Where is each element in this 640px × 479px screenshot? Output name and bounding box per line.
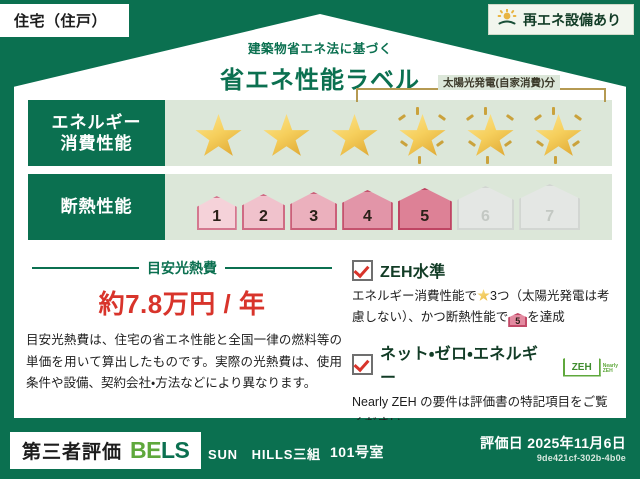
rule-left [32, 267, 139, 269]
bels-certification-badge: 第三者評価 BELS [10, 432, 201, 469]
zeh-badge-text: ZEH [572, 362, 592, 375]
renewable-badge-label: 再エネ設備あり [523, 10, 621, 30]
energy-performance-row: エネルギー 消費性能 太陽光発電(自家消費)分 [28, 100, 612, 166]
insulation-level-number: 2 [259, 208, 268, 226]
sun-ray [399, 140, 407, 147]
rule-right [225, 267, 332, 269]
sun-ray [416, 107, 419, 115]
star-shape [399, 114, 447, 160]
star-shape [331, 114, 379, 160]
evaluation-date: 評価日 2025年11月6日 [480, 433, 626, 453]
insulation-level-4: 4 [342, 190, 393, 230]
insulation-level-number: 7 [545, 208, 554, 226]
utility-cost-block: 目安光熱費 約7.8万円 / 年 [32, 258, 332, 321]
energy-stars-cell: 太陽光発電(自家消費)分 [165, 100, 612, 166]
insulation-level-scale: 1234567 [197, 184, 581, 230]
sun-ray [552, 107, 555, 115]
sun-ray [397, 114, 405, 121]
renewable-equipment-badge: 再エネ設備あり [488, 4, 634, 35]
solar-star-icon [460, 108, 522, 166]
sun-ray [573, 114, 581, 121]
star-icon [188, 108, 250, 166]
energy-label-line2: 消費性能 [61, 133, 133, 154]
zeh-standard-heading: ZEH水準 [352, 258, 618, 282]
zeh-standard-block: ZEH水準 エネルギー消費性能で3つ（太陽光発電は考慮しない）、かつ断熱性能で5… [352, 258, 618, 328]
sun-ray [533, 114, 541, 121]
insulation-level-badge-icon: 5 [508, 313, 527, 327]
sun-ray [535, 140, 543, 147]
insulation-level-number: 4 [363, 208, 372, 226]
insulation-level-2: 2 [242, 194, 286, 230]
insulation-level-7: 7 [519, 184, 580, 230]
sun-ray [554, 156, 557, 164]
sun-icon [497, 9, 517, 30]
solar-star-icon [528, 108, 590, 166]
sun-ray [465, 114, 473, 121]
sun-ray [435, 140, 443, 147]
star-shape [263, 114, 311, 160]
energy-performance-label: エネルギー 消費性能 [28, 100, 165, 166]
sun-ray [484, 107, 487, 115]
bels-logo: BELS [130, 437, 189, 464]
sun-ray [418, 156, 421, 164]
zeh-netzero-title: ネット・ゼロ・エネルギー [380, 340, 553, 388]
check-icon [352, 260, 373, 281]
star-icon [477, 289, 490, 302]
star-icon [324, 108, 386, 166]
utility-cost-value: 約7.8万円 / 年 [32, 284, 332, 321]
solar-bracket-label: 太陽光発電(自家消費)分 [438, 75, 560, 90]
insulation-level-number: 3 [309, 208, 318, 226]
sun-ray [571, 140, 579, 147]
bels-energy-label-screenshot: { "header": { "house_type": "住宅（住戸）", "r… [0, 0, 640, 479]
insulation-label-text: 断熱性能 [61, 196, 133, 217]
zeh-standard-title: ZEH水準 [380, 258, 446, 282]
star-shape [195, 114, 243, 160]
insulation-level-6: 6 [457, 186, 515, 230]
insulation-performance-label: 断熱性能 [28, 174, 165, 240]
insulation-scale-cell: 1234567 [165, 174, 612, 240]
zeh-badge-outline: ZEH [563, 352, 601, 377]
bels-logo-part1: BE [130, 437, 161, 463]
zeh-netzero-heading: ネット・ゼロ・エネルギー ZEH NearlyZEH [352, 340, 618, 388]
zeh-column: ZEH水準 エネルギー消費性能で3つ（太陽光発電は考慮しない）、かつ断熱性能で5… [352, 258, 618, 446]
title-subtitle: 建築物省エネ法に基づく [0, 38, 640, 57]
star-shape [467, 114, 515, 160]
sun-ray [486, 156, 489, 164]
insulation-level-number: 1 [212, 208, 221, 226]
energy-label-line1: エネルギー [52, 112, 142, 133]
utility-cost-note: 目安光熱費は、住宅の省エネ性能と全国一律の燃料等の単価を用いて算出したものです。… [26, 330, 342, 395]
insulation-performance-row: 断熱性能 1234567 [28, 174, 612, 240]
solar-star-icon [392, 108, 454, 166]
third-party-eval-label: 第三者評価 [22, 437, 122, 464]
sun-ray [505, 114, 513, 121]
insulation-level-3: 3 [290, 192, 337, 230]
insulation-level-number: 5 [420, 208, 429, 226]
utility-cost-heading: 目安光熱費 [32, 258, 332, 278]
utility-cost-heading-label: 目安光熱費 [147, 258, 217, 278]
zeh-body-text-1: エネルギー消費性能で [352, 289, 477, 303]
zeh-badge-subtext: NearlyZEH [603, 364, 618, 377]
star-shape [535, 114, 583, 160]
zeh-body-text-3: を達成 [527, 310, 565, 324]
building-name: SUN HILLS三組 [208, 444, 321, 463]
sun-ray [437, 114, 445, 121]
solar-bracket [356, 88, 606, 102]
insulation-level-number: 6 [481, 208, 490, 226]
house-type-badge: 住宅（住戸） [0, 4, 129, 37]
evaluation-id: 9de421cf-302b-4b0e [537, 453, 626, 463]
sun-ray [467, 140, 475, 147]
performance-panel: エネルギー 消費性能 太陽光発電(自家消費)分 断熱性能 1234567 [28, 100, 612, 248]
energy-star-rating [188, 100, 590, 166]
check-icon [352, 354, 373, 375]
zeh-standard-body: エネルギー消費性能で3つ（太陽光発電は考慮しない）、かつ断熱性能で5を達成 [352, 286, 618, 328]
footer-bar: 第三者評価 BELS SUN HILLS三組 101号室 評価日 2025年11… [0, 420, 640, 479]
sun-ray [503, 140, 511, 147]
insulation-level-1: 1 [197, 196, 237, 230]
zeh-house-badge-icon: ZEH NearlyZEH [563, 352, 618, 377]
bels-logo-part2: LS [161, 437, 189, 463]
star-icon [256, 108, 318, 166]
room-number: 101号室 [330, 442, 384, 462]
insulation-level-5: 5 [398, 188, 452, 230]
